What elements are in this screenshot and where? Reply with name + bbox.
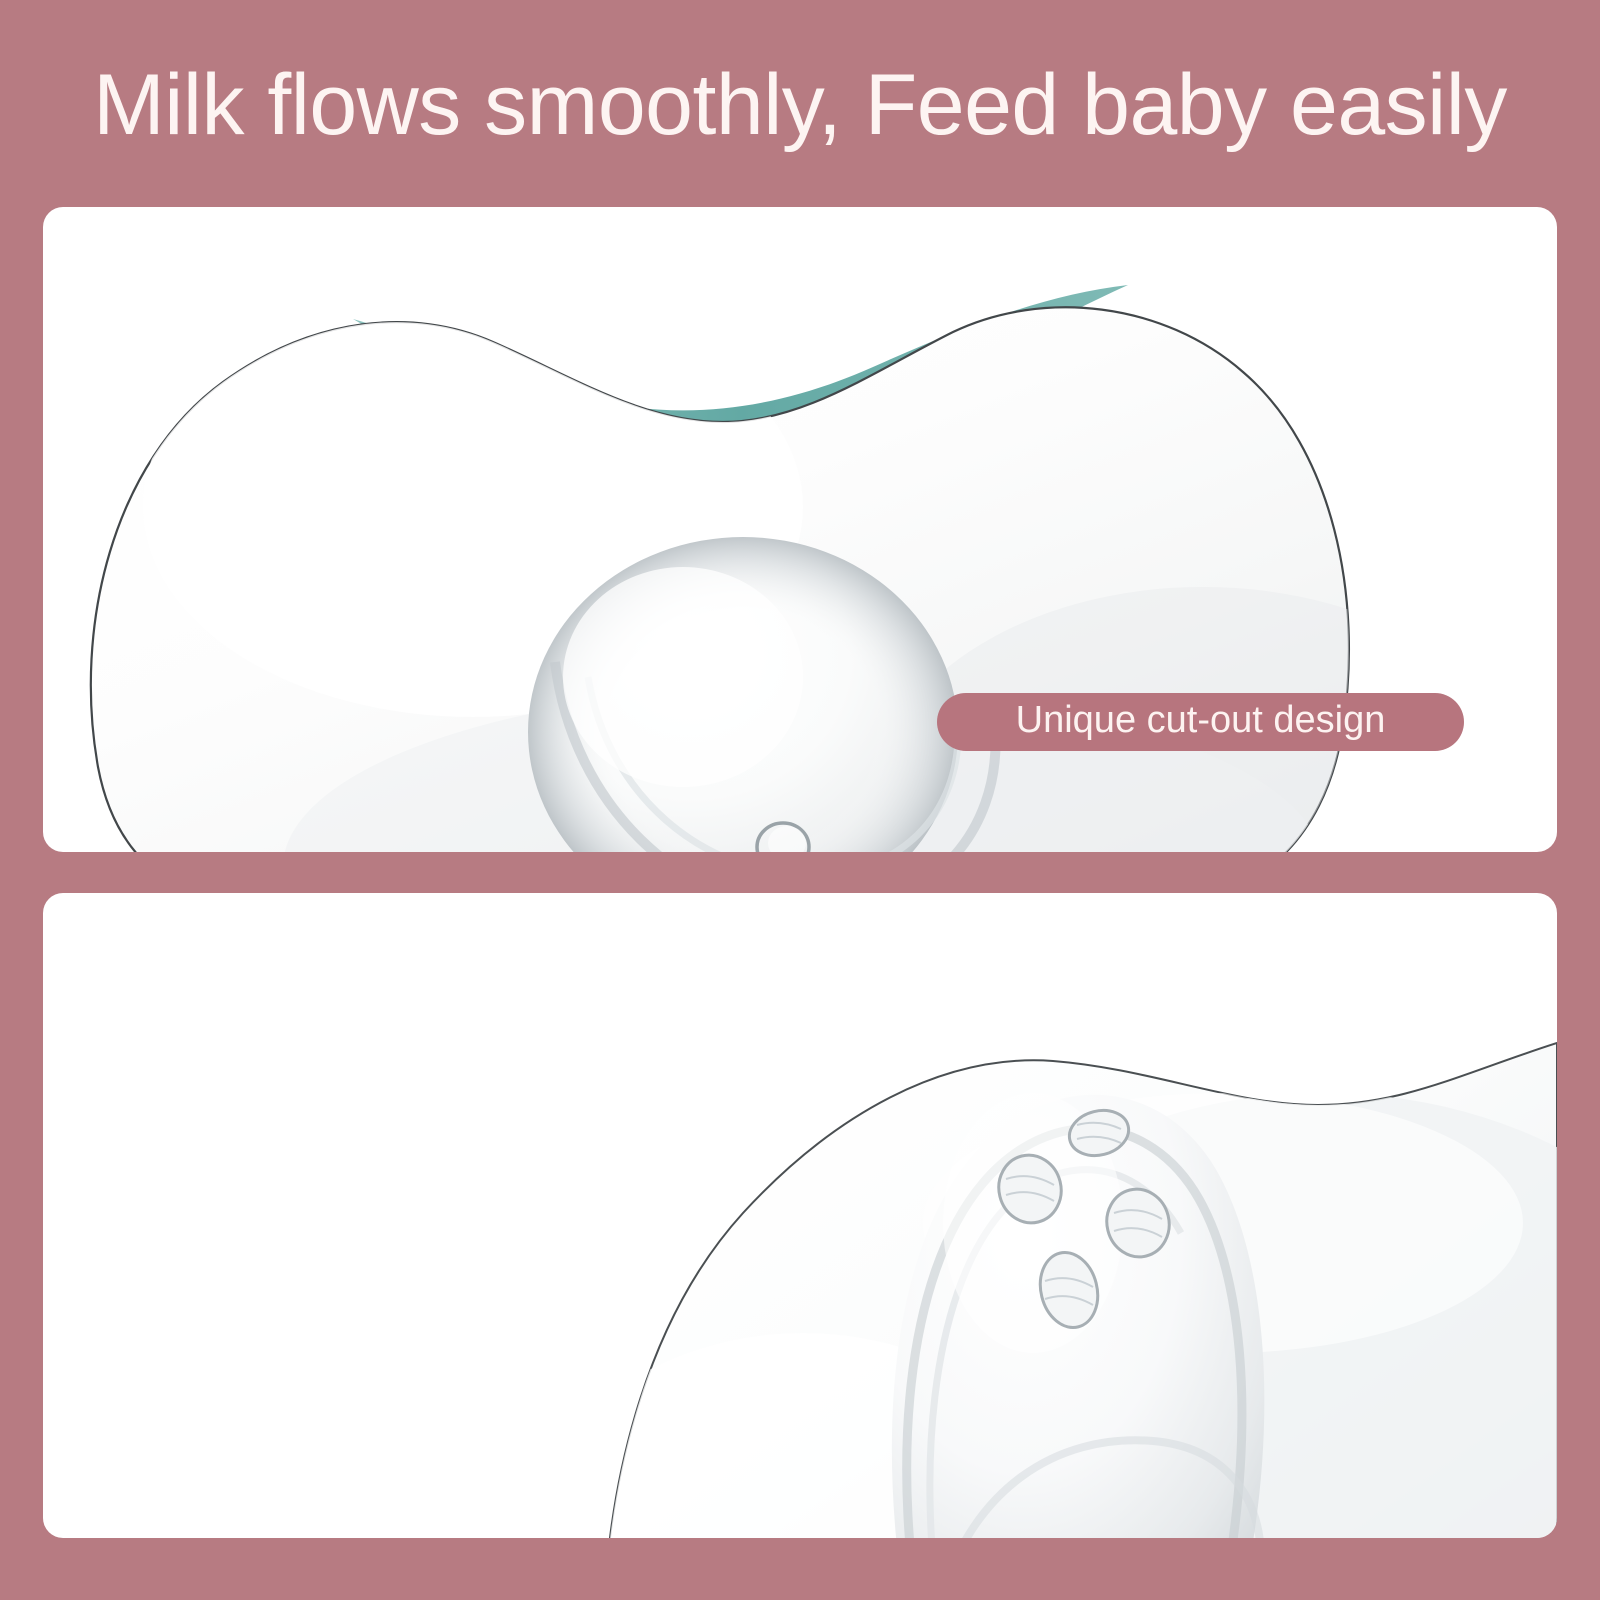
feature-card-top: Unique cut-out design (43, 207, 1557, 852)
nipple-shield-closeup-holes-photo (43, 893, 1557, 1538)
feature-card-bottom: Diameter: 2mm (43, 893, 1557, 1538)
nipple-shield-front-view-photo (43, 207, 1557, 852)
product-feature-image: Milk flows smoothly, Feed baby easily (0, 0, 1600, 1600)
badge-unique-cut-out-design-label: Unique cut-out design (1016, 699, 1386, 742)
badge-unique-cut-out-design[interactable]: Unique cut-out design (937, 693, 1464, 751)
page-title: Milk flows smoothly, Feed baby easily (0, 62, 1600, 148)
